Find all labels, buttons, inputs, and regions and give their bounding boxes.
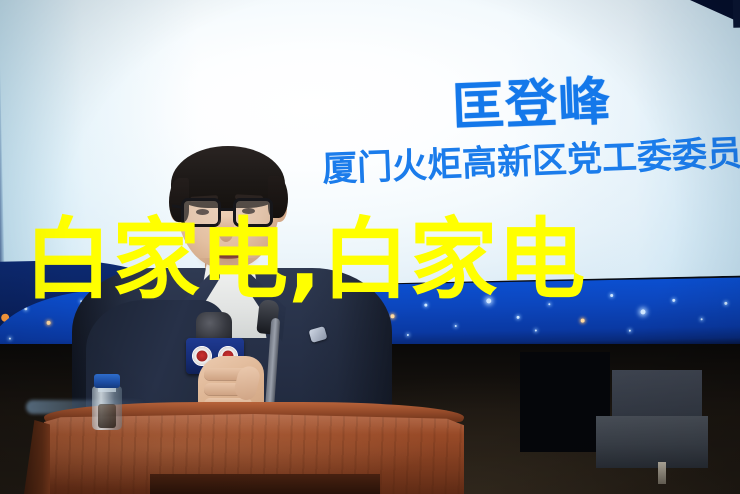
water-bottle-cap: [94, 374, 120, 388]
water-bottle-liquid: [98, 404, 116, 428]
caption-overlay: 白家电,白家电: [24, 216, 585, 304]
video-frame: 匡登峰 厦门火炬高新区党工委委员 白家电,白家电: [0, 0, 740, 494]
podium-base: [150, 474, 380, 494]
